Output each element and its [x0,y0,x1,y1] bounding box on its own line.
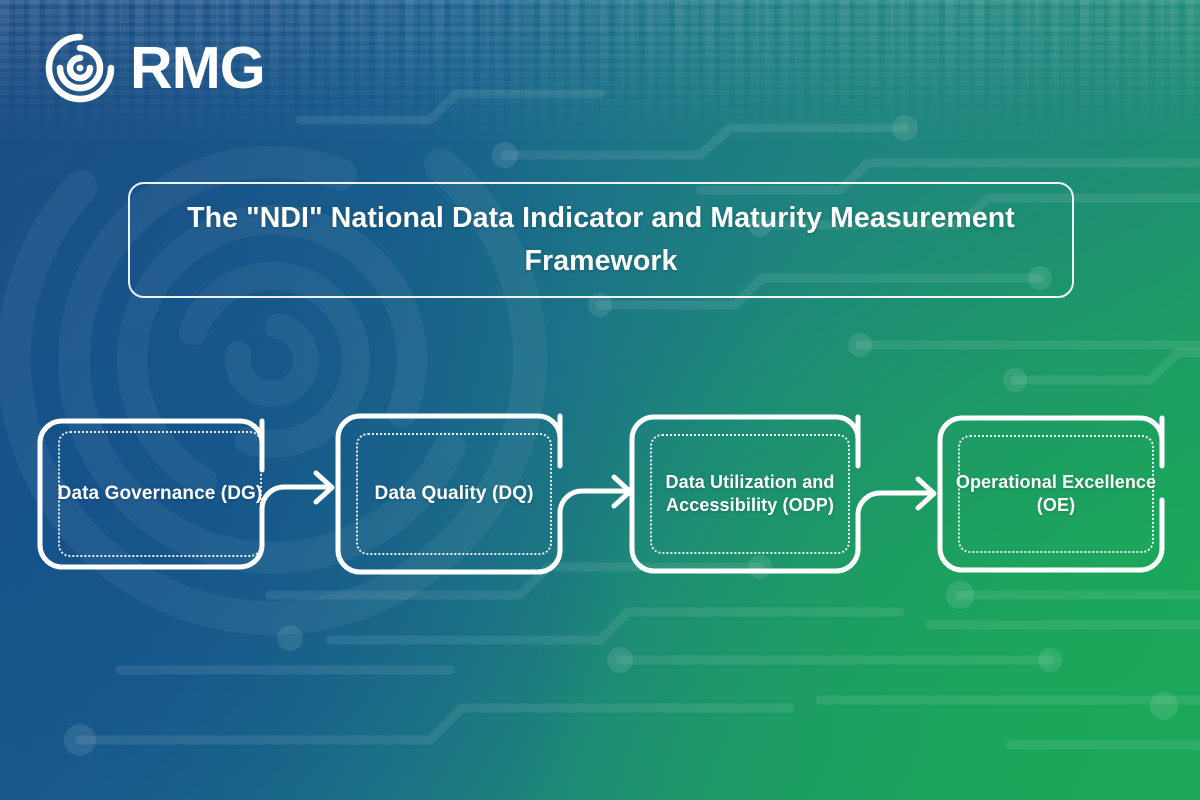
flow-step-3-label: Operational Excellence (OE) [940,471,1172,517]
flow-step-operational-excellence[interactable]: Operational Excellence (OE) [940,418,1172,570]
infographic-canvas: RMG The "NDI" National Data Indicator an… [0,0,1200,800]
flow-step-data-quality[interactable]: Data Quality (DQ) [338,416,570,572]
flow-step-1-label: Data Quality (DQ) [365,482,544,506]
pixel-grid-pattern-secondary [0,0,1200,110]
flow-step-0-label: Data Governance (DG) [48,482,273,506]
flow-step-data-utilization[interactable]: Data Utilization and Accessibility (ODP) [632,417,868,571]
flow-step-data-governance[interactable]: Data Governance (DG) [40,413,280,575]
flow-step-2-label: Data Utilization and Accessibility (ODP) [632,471,868,517]
connector-arrow-3 [858,493,932,549]
